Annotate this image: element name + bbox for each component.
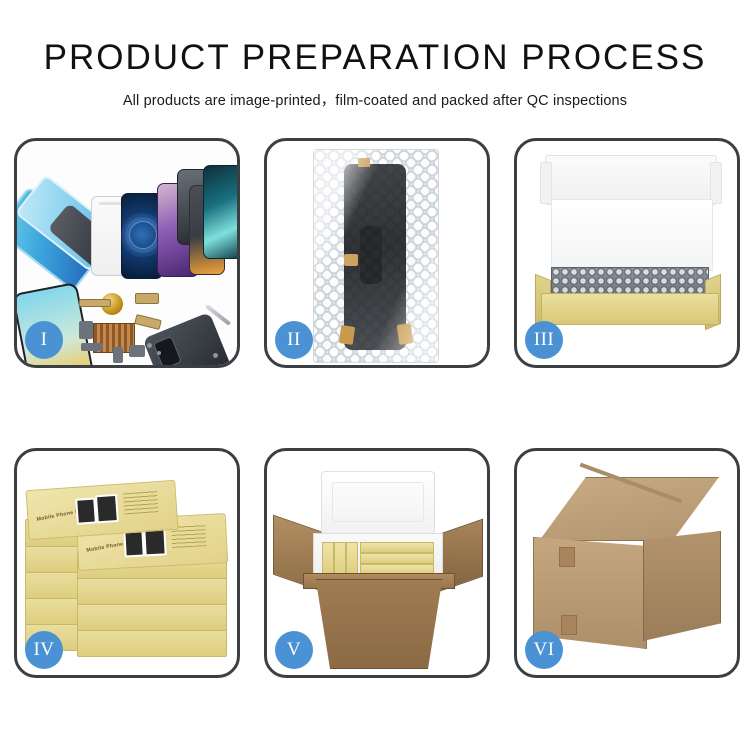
tape-strip-top xyxy=(358,158,370,167)
step-panel-1: I xyxy=(14,138,240,368)
step-panel-2: II xyxy=(264,138,490,368)
ribbon-cable-part xyxy=(134,314,162,330)
carton-tape-upper xyxy=(559,547,575,567)
step-badge-3: III xyxy=(525,321,563,359)
stacked-box-8 xyxy=(77,577,227,605)
box-stack: Mobile Phone Spare Parts Mobile Phone Sp… xyxy=(25,473,229,659)
step-badge-5: V xyxy=(275,631,313,669)
screw-part-c xyxy=(213,353,218,358)
yellow-box-4 xyxy=(360,542,434,553)
label-thumb-a1 xyxy=(123,530,144,557)
bracket-part xyxy=(79,321,93,339)
label-thumb-b2 xyxy=(95,494,119,523)
box-front-kraft xyxy=(541,293,719,325)
foam-cooler-lid xyxy=(321,471,435,535)
speaker-part xyxy=(129,345,145,357)
label-spec-lines-rear xyxy=(123,490,158,514)
product-preparation-infographic: PRODUCT PREPARATION PROCESS All products… xyxy=(0,0,750,750)
yellow-box-5 xyxy=(360,553,434,564)
stacked-box-7 xyxy=(77,603,227,631)
tape-strip-bottom-right xyxy=(397,323,414,345)
carton-top-face xyxy=(539,477,719,541)
label-thumb-b1 xyxy=(75,497,97,524)
step-panel-6: VI xyxy=(514,448,740,678)
connector-part xyxy=(135,293,159,304)
bubble-wrap-bag xyxy=(313,149,439,363)
step-badge-2: II xyxy=(275,321,313,359)
tape-strip-bottom-left xyxy=(339,325,355,345)
header: PRODUCT PREPARATION PROCESS All products… xyxy=(0,0,750,110)
ripple-graphic xyxy=(129,221,157,249)
carton-tape-lower xyxy=(561,615,577,635)
phone-teal-wave xyxy=(203,165,237,259)
carton-body xyxy=(307,579,451,669)
step-panel-4: Mobile Phone Spare Parts Mobile Phone Sp… xyxy=(14,448,240,678)
step-badge-1: I xyxy=(25,321,63,359)
foam-lid-panel xyxy=(545,155,717,205)
step-panel-3: III xyxy=(514,138,740,368)
screw-part-b xyxy=(157,351,161,355)
screw-part-a xyxy=(147,343,152,348)
page-subtitle: All products are image-printed，film-coat… xyxy=(0,89,750,110)
page-title: PRODUCT PREPARATION PROCESS xyxy=(0,40,750,77)
step-badge-4: IV xyxy=(25,631,63,669)
step-panel-5: V xyxy=(264,448,490,678)
foam-sheet xyxy=(551,199,713,271)
flex-cable-part xyxy=(79,299,111,307)
shield-plate-part xyxy=(81,343,103,351)
top-box-rear: Mobile Phone Spare Parts xyxy=(25,480,178,540)
step-badge-6: VI xyxy=(525,631,563,669)
stacked-box-6 xyxy=(77,629,227,657)
tape-strip-middle xyxy=(344,254,358,266)
process-step-grid: I II xyxy=(14,138,736,738)
carton-side-face xyxy=(643,531,721,641)
button-part xyxy=(113,347,123,363)
